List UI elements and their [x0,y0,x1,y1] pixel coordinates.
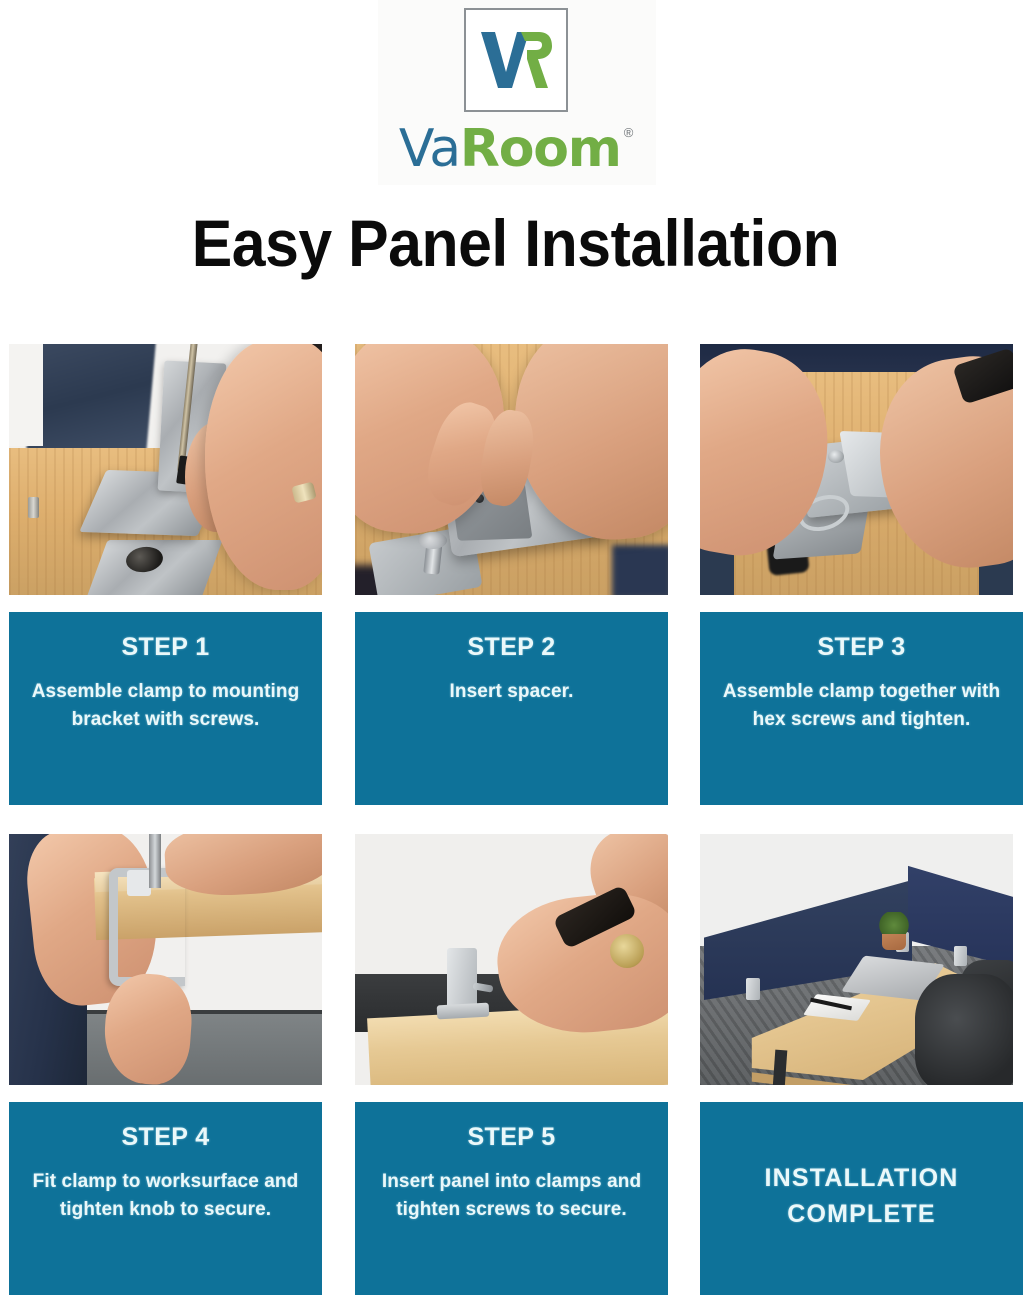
step-5-heading: STEP 5 [369,1124,654,1152]
step-3-body: Assemble clamp together with hex screws … [714,678,1009,735]
page-header: VaRoom® Easy Panel Installation [0,0,1031,330]
step-2-photo [355,344,668,595]
step-4-photo [9,834,322,1085]
brand-wordmark-room: Room [460,123,621,175]
step-4-heading: STEP 4 [23,1124,308,1152]
step-5-photo-cell [331,820,676,1102]
step-5-caption: STEP 5 Insert panel into clamps and tigh… [355,1102,668,1295]
step-3-photo-cell [676,330,1031,612]
steps-grid: STEP 1 Assemble clamp to mounting bracke… [0,330,1031,1295]
step-6-photo-cell [676,820,1031,1102]
step-3-caption: STEP 3 Assemble clamp together with hex … [700,612,1023,805]
step-4-body: Fit clamp to worksurface and tighten kno… [23,1168,308,1225]
step-1-caption-cell: STEP 1 Assemble clamp to mounting bracke… [0,612,331,820]
step-1-photo-cell [0,330,331,612]
step-3-heading: STEP 3 [714,634,1009,662]
page-title: Easy Panel Installation [41,205,990,281]
step-6-caption: INSTALLATION COMPLETE [700,1102,1023,1295]
step-4-photo-cell [0,820,331,1102]
step-4-caption-cell: STEP 4 Fit clamp to worksurface and tigh… [0,1102,331,1295]
step-6-photo [700,834,1013,1085]
step-6-caption-cell: INSTALLATION COMPLETE [676,1102,1031,1295]
step-2-heading: STEP 2 [369,634,654,662]
brand-wordmark-va: Va [399,123,460,175]
step-1-caption: STEP 1 Assemble clamp to mounting bracke… [9,612,322,805]
step-3-caption-cell: STEP 3 Assemble clamp together with hex … [676,612,1031,820]
step-2-body: Insert spacer. [369,678,654,707]
step-6-heading: INSTALLATION COMPLETE [714,1160,1009,1233]
step-2-photo-cell [331,330,676,612]
step-2-caption: STEP 2 Insert spacer. [355,612,668,805]
step-3-photo [700,344,1013,595]
step-4-caption: STEP 4 Fit clamp to worksurface and tigh… [9,1102,322,1295]
step-1-body: Assemble clamp to mounting bracket with … [23,678,308,735]
step-2-caption-cell: STEP 2 Insert spacer. [331,612,676,820]
brand-logo: VaRoom® [0,8,1031,175]
step-5-photo [355,834,668,1085]
step-1-photo [9,344,322,595]
registered-trademark-icon: ® [624,126,632,139]
vr-monogram-icon [464,8,568,112]
step-5-body: Insert panel into clamps and tighten scr… [369,1168,654,1225]
step-5-caption-cell: STEP 5 Insert panel into clamps and tigh… [331,1102,676,1295]
brand-wordmark: VaRoom® [399,123,632,175]
step-1-heading: STEP 1 [23,634,308,662]
